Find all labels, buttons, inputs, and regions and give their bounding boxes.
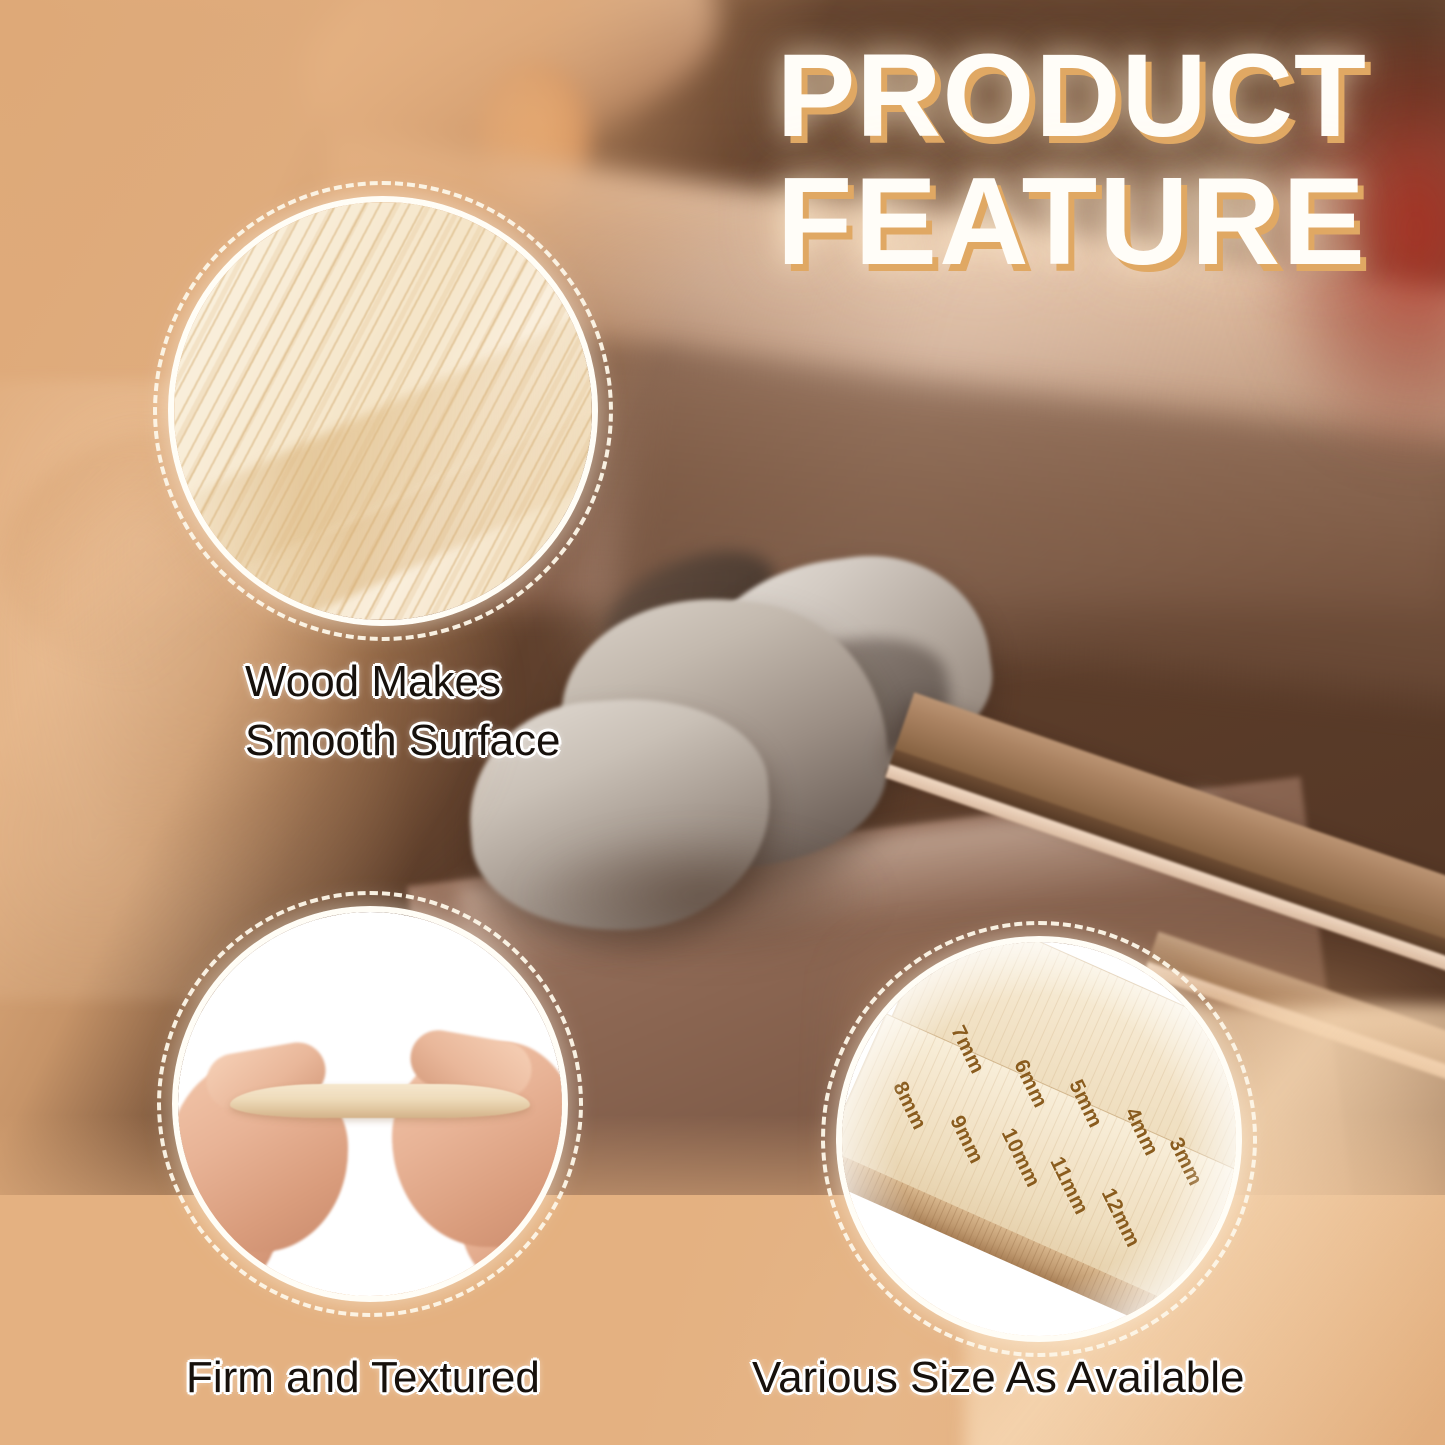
caption-wood-grain: Wood Makes Smooth Surface <box>245 652 561 771</box>
callout-solid-ring <box>168 196 598 626</box>
callout-wood-grain <box>168 196 598 626</box>
size-boards-photo: 7mm 6mm 5mm 4mm 3mm 8mm 9mm 10mm 11mm 12… <box>842 942 1236 1336</box>
callout-bend-test <box>172 906 568 1302</box>
page-title: PRODUCT FEATURE <box>777 40 1367 282</box>
caption-sizes: Various Size As Available <box>752 1348 1244 1407</box>
callout-solid-ring <box>172 906 568 1302</box>
title-line-2: FEATURE <box>777 163 1367 282</box>
product-feature-banner: PRODUCT FEATURE <box>0 0 1445 1445</box>
title-line-1: PRODUCT <box>777 40 1367 153</box>
caption-bend-test: Firm and Textured <box>186 1348 540 1407</box>
callout-sizes: 7mm 6mm 5mm 4mm 3mm 8mm 9mm 10mm 11mm 12… <box>836 936 1242 1342</box>
wood-grain-photo <box>174 202 592 620</box>
bent-wood-strip <box>230 1084 530 1118</box>
bend-test-photo <box>178 912 562 1296</box>
callout-solid-ring: 7mm 6mm 5mm 4mm 3mm 8mm 9mm 10mm 11mm 12… <box>836 936 1242 1342</box>
